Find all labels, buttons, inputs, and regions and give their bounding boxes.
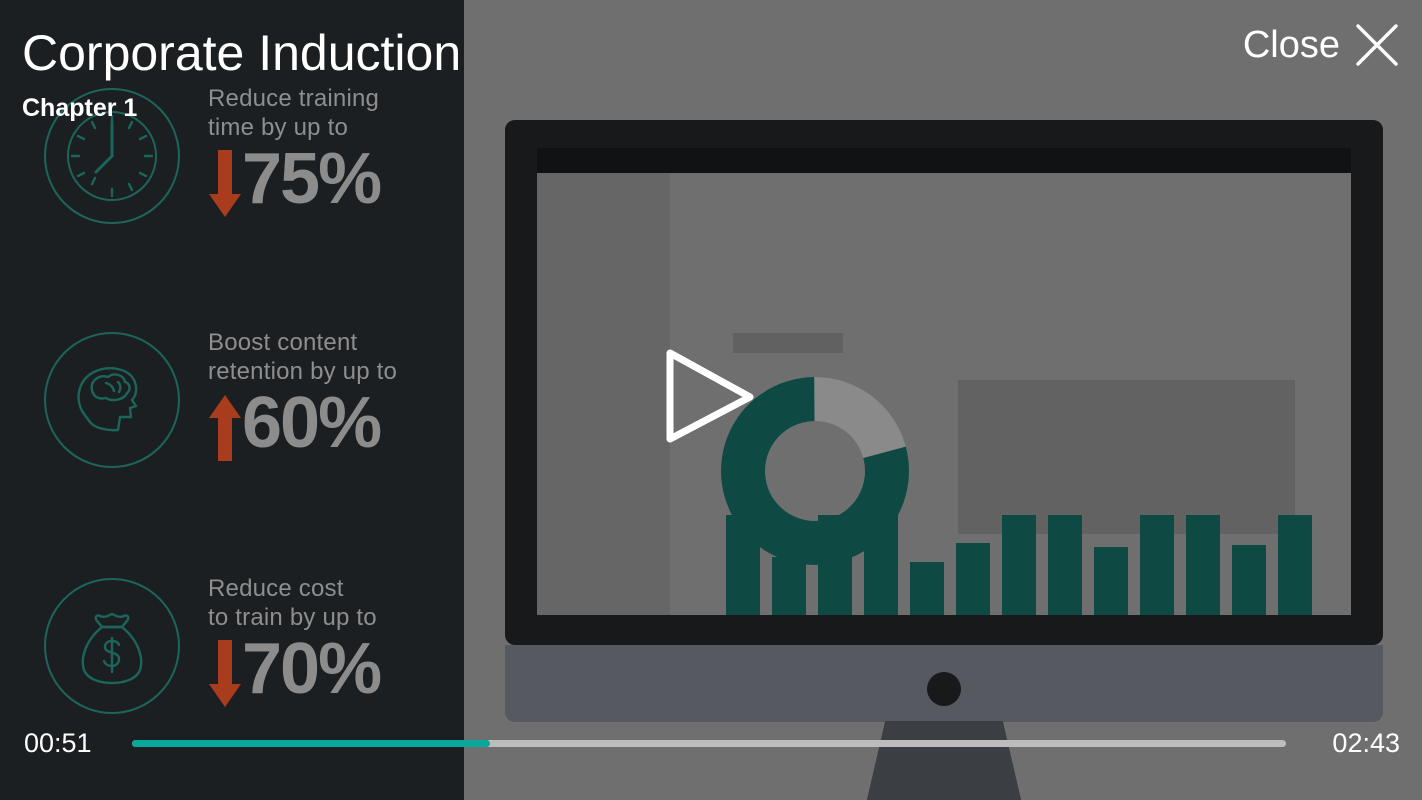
progress-bar-fill: [132, 740, 490, 747]
monitor-screen: [537, 173, 1351, 615]
stat-text-1: Boost content retention by up to 60%: [208, 328, 397, 464]
money-bag-icon: [44, 578, 180, 714]
bar-chart-bar: [1048, 515, 1082, 615]
screen-content-panel: [958, 380, 1295, 534]
close-x-icon: [1354, 22, 1400, 68]
bar-chart-bar: [910, 562, 944, 615]
bar-chart-bar: [818, 515, 852, 615]
close-button[interactable]: Close: [1243, 22, 1400, 68]
stat-caption-2: Reduce cost to train by up to: [208, 574, 380, 632]
bar-chart-bar: [772, 557, 806, 615]
play-triangle-icon: [664, 347, 756, 445]
chapter-label: Chapter 1: [22, 92, 137, 124]
stat-item-1: Boost content retention by up to 60%: [0, 332, 464, 492]
stat-value-1: 60%: [242, 388, 380, 458]
bar-chart-bar: [726, 515, 760, 615]
bar-chart-bar: [1186, 515, 1220, 615]
video-player-overlay: Reduce training time by up to 75%: [0, 0, 1422, 800]
bar-chart: [726, 515, 1306, 615]
close-button-label: Close: [1243, 23, 1340, 67]
stat-caption-1: Boost content retention by up to: [208, 328, 397, 386]
current-time-label: 00:51: [24, 726, 92, 760]
monitor-bezel: [505, 120, 1383, 645]
total-time-label: 02:43: [1332, 726, 1400, 760]
page-title: Corporate Induction: [22, 24, 461, 82]
progress-bar-track[interactable]: [132, 740, 1286, 747]
monitor-stand: [839, 721, 1049, 800]
brain-head-icon: [44, 332, 180, 468]
screen-top-bar: [537, 148, 1351, 173]
arrow-down-icon-2: [208, 640, 242, 710]
bar-chart-bar: [1140, 515, 1174, 615]
screen-sidebar: [537, 173, 670, 615]
play-button[interactable]: [664, 347, 756, 445]
monitor-illustration: [505, 120, 1383, 725]
stat-item-2: Reduce cost to train by up to 70%: [0, 578, 464, 738]
monitor-home-button-icon: [927, 672, 961, 706]
stat-value-2: 70%: [242, 634, 380, 704]
stat-text-2: Reduce cost to train by up to 70%: [208, 574, 380, 710]
bar-chart-bar: [956, 543, 990, 615]
bar-chart-bar: [1094, 547, 1128, 615]
arrow-up-icon-1: [208, 394, 242, 464]
bar-chart-bar: [1278, 515, 1312, 615]
stat-value-0: 75%: [242, 144, 380, 214]
stat-caption-0: Reduce training time by up to: [208, 84, 380, 142]
stat-text-0: Reduce training time by up to 75%: [208, 84, 380, 220]
bar-chart-bar: [1002, 515, 1036, 615]
bar-chart-bar: [1232, 545, 1266, 615]
bar-chart-bar: [864, 515, 898, 615]
arrow-down-icon-0: [208, 150, 242, 220]
